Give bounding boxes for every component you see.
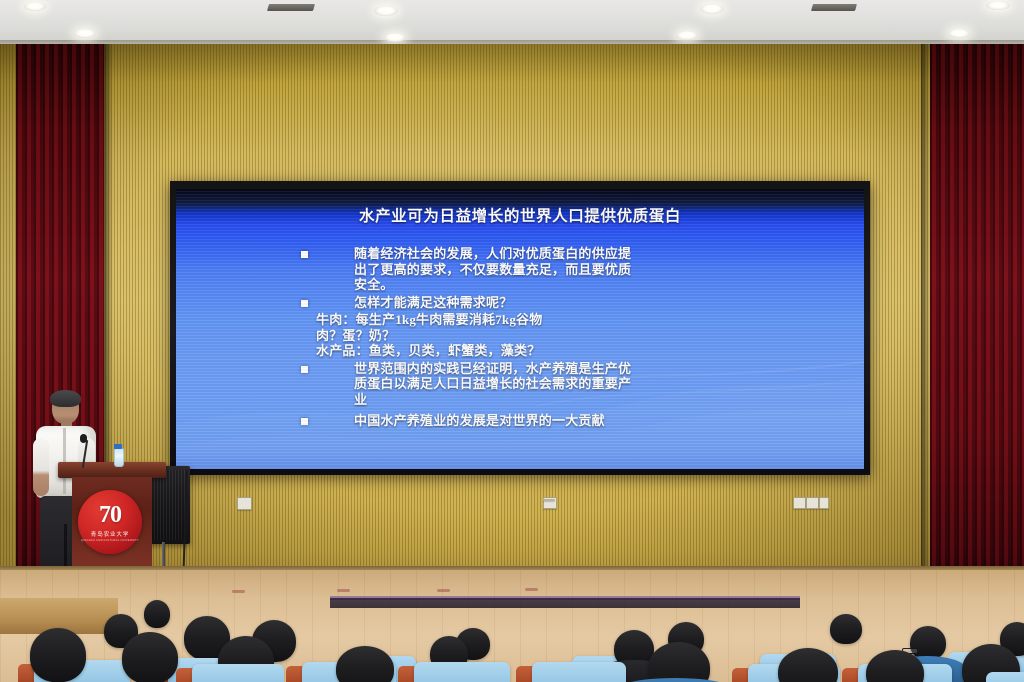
slide-canvas: 水产业可为日益增长的世界人口提供优质蛋白 随着经济社会的发展，人们对优质蛋白的供…: [176, 188, 864, 469]
presenter-arm-left: [33, 438, 49, 496]
curtain-shadow-right: [921, 44, 930, 596]
air-vent-icon: [811, 4, 857, 11]
led-presentation-screen[interactable]: 水产业可为日益增长的世界人口提供优质蛋白 随着经济社会的发展，人们对优质蛋白的供…: [170, 181, 870, 475]
floor-marking: [232, 590, 245, 593]
audience-head: [144, 600, 170, 628]
slide-bullet-text: 世界范围内的实践已经证明，水产养殖是生产优 质蛋白以满足人口日益增长的社会需求的…: [354, 361, 631, 408]
audience-head: [336, 646, 394, 682]
ceiling-light: [676, 31, 698, 40]
audience-head: [30, 628, 86, 682]
water-bottle: [114, 448, 124, 467]
square-bullet-icon: [301, 300, 308, 307]
microphone-icon: [80, 434, 87, 443]
ceiling-light: [700, 4, 724, 14]
slide-bullet: 中国水产养殖业的发展是对世界的一大贡献: [176, 413, 864, 429]
podium-top: [58, 462, 166, 478]
wall-socket-plate: [237, 497, 252, 510]
emblem-number: 70: [99, 503, 121, 527]
slide-subtext: 牛肉：每生产1kg牛肉需要消耗7kg谷物 肉？蛋？奶？ 水产品：鱼类，贝类，虾蟹…: [316, 312, 542, 359]
slide-title: 水产业可为日益增长的世界人口提供优质蛋白: [176, 204, 864, 226]
wall-socket-plate: [819, 497, 829, 509]
ceiling-light: [384, 33, 406, 42]
wall-socket-plate: [806, 497, 819, 509]
slide-body: 随着经济社会的发展，人们对优质蛋白的供应提 出了更高的要求，不仅要数量充足，而且…: [176, 244, 864, 465]
ceiling-light: [986, 1, 1010, 10]
floor-marking: [437, 589, 450, 592]
auditorium-seat: [532, 662, 626, 682]
wall-socket-plate: [543, 499, 555, 501]
audience-area: [0, 598, 1024, 682]
floor-marking: [525, 588, 538, 591]
audience-head: [122, 632, 178, 682]
audience-head: [910, 626, 946, 660]
slide-bullet-text: 怎样才能满足这种需求呢？: [354, 295, 512, 311]
emblem-institution-name: 青岛农业大学: [91, 530, 129, 538]
ceiling-light: [74, 29, 96, 38]
square-bullet-icon: [301, 251, 308, 258]
floor-marking: [337, 589, 350, 592]
air-vent-icon: [267, 4, 315, 11]
slide-bullet: 怎样才能满足这种需求呢？: [176, 295, 864, 311]
ceiling-light: [374, 6, 398, 16]
lecture-hall-photo: 水产业可为日益增长的世界人口提供优质蛋白 随着经济社会的发展，人们对优质蛋白的供…: [0, 0, 1024, 682]
slide-bullet-text: 中国水产养殖业的发展是对世界的一大贡献: [354, 413, 605, 429]
auditorium-seat: [986, 672, 1024, 682]
slide-subtext-group: 牛肉：每生产1kg牛肉需要消耗7kg谷物 肉？蛋？奶？ 水产品：鱼类，贝类，虾蟹…: [176, 312, 864, 359]
audience-head: [830, 614, 862, 644]
slide-bullet: 世界范围内的实践已经证明，水产养殖是生产优 质蛋白以满足人口日益增长的社会需求的…: [176, 361, 864, 408]
presenter-hair: [50, 390, 81, 407]
water-bottle-cap: [114, 444, 122, 449]
square-bullet-icon: [301, 366, 308, 373]
slide-bullet: 随着经济社会的发展，人们对优质蛋白的供应提 出了更高的要求，不仅要数量充足，而且…: [176, 246, 864, 293]
wall-socket-plate: [793, 497, 806, 509]
auditorium-seat: [414, 662, 510, 682]
auditorium-seat: [192, 664, 284, 682]
square-bullet-icon: [301, 418, 308, 425]
emblem-subtitle: QINGDAO AGRICULTURAL UNIVERSITY: [81, 539, 139, 542]
ceiling-light: [948, 29, 970, 38]
slide-bullet-text: 随着经济社会的发展，人们对优质蛋白的供应提 出了更高的要求，不仅要数量充足，而且…: [354, 246, 631, 293]
stage-curtain-right: [930, 44, 1024, 596]
ceiling-light: [24, 2, 46, 11]
university-anniversary-emblem: 70 青岛农业大学 QINGDAO AGRICULTURAL UNIVERSIT…: [78, 490, 142, 554]
